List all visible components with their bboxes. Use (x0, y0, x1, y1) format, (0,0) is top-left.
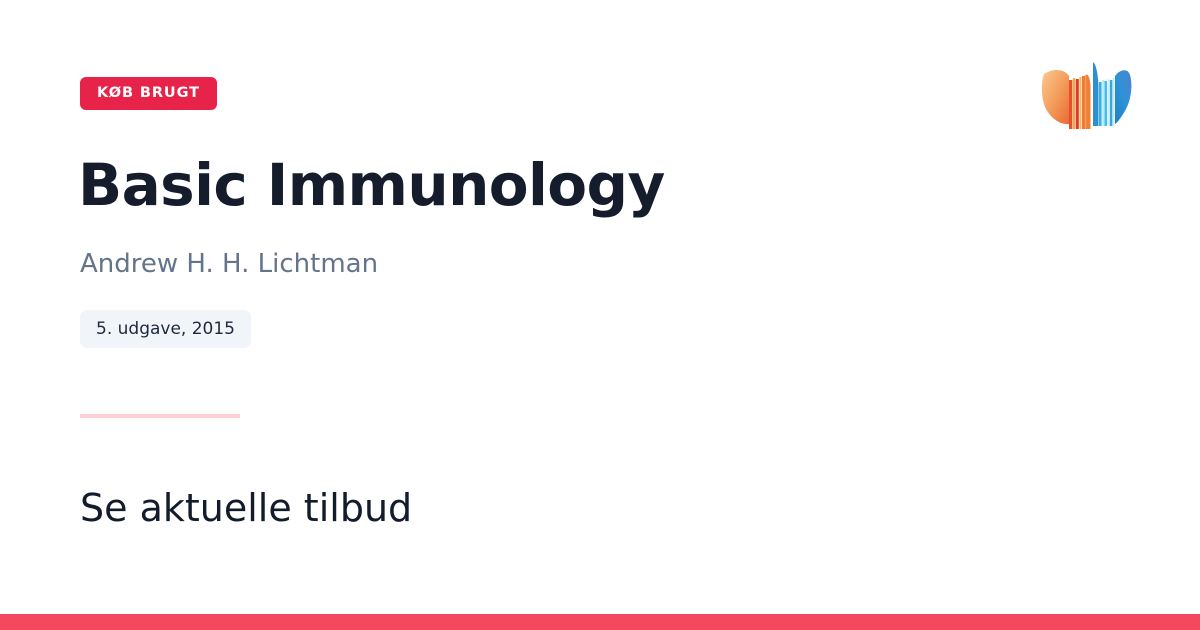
edition-chip: 5. udgave, 2015 (80, 310, 251, 348)
bottom-accent-bar (0, 614, 1200, 630)
book-author: Andrew H. H. Lichtman (80, 248, 378, 282)
promo-card: KØB BRUGT Basic Immunology Andrew H. H. … (0, 0, 1200, 630)
section-divider (80, 414, 240, 418)
kob-brugt-badge[interactable]: KØB BRUGT (80, 77, 217, 110)
book-title: Basic Immunology (78, 153, 665, 218)
cta-see-current-offers[interactable]: Se aktuelle tilbud (80, 485, 412, 533)
butterfly-wings-logo (1038, 52, 1134, 156)
